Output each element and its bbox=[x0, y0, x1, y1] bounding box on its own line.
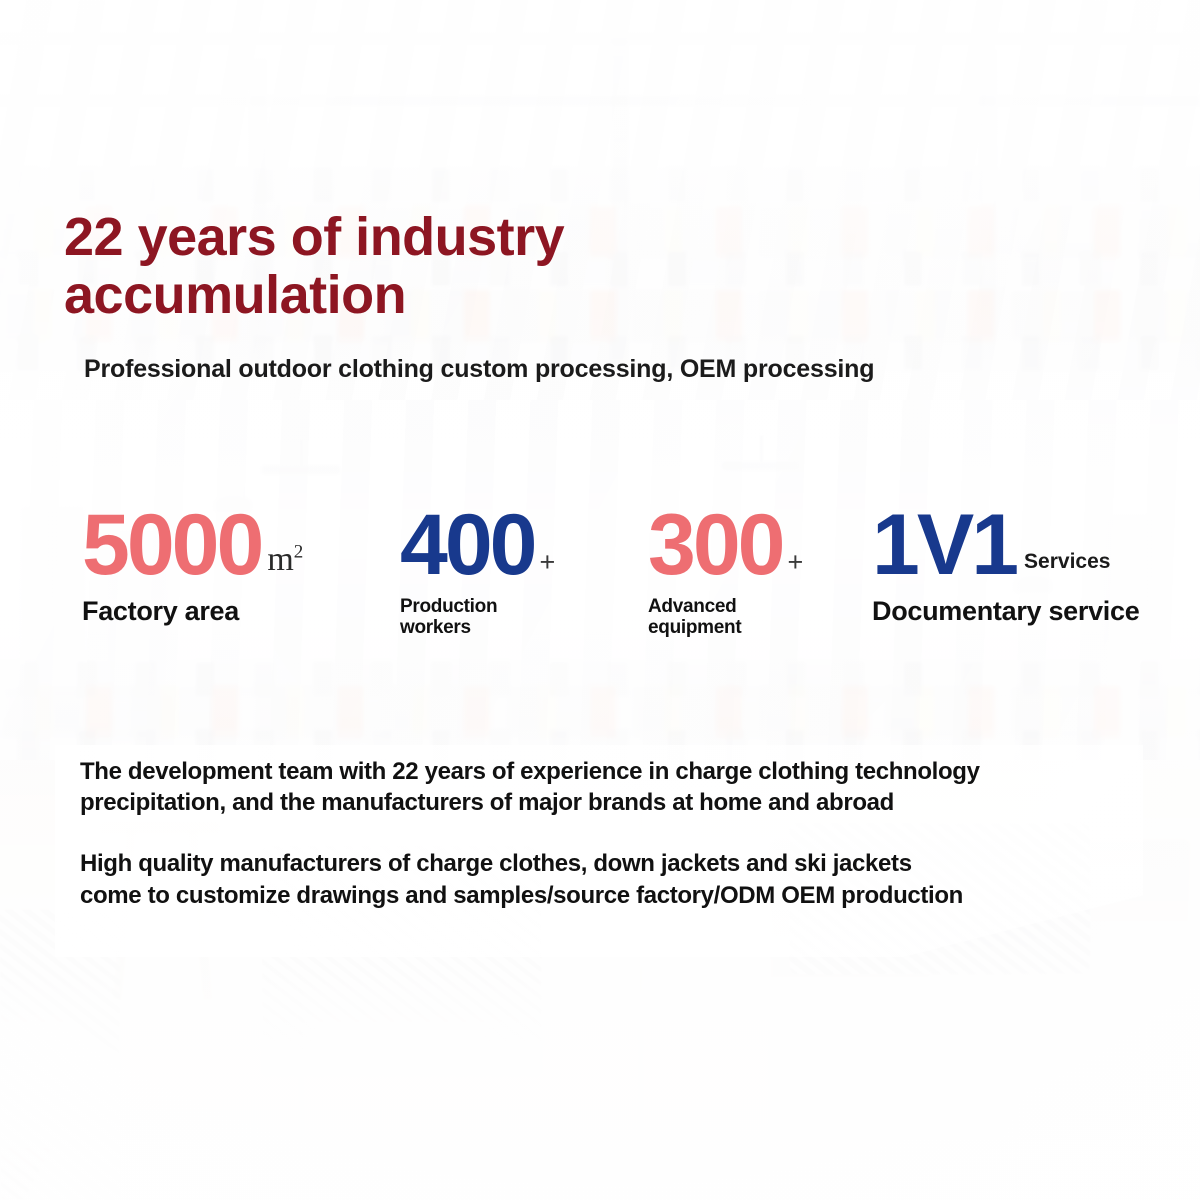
page-title: 22 years of industry accumulation bbox=[64, 208, 764, 325]
stat-figure: 300 + bbox=[648, 505, 803, 591]
stat-figure: 1V1 Services bbox=[872, 505, 1139, 591]
stat-unit: m2 bbox=[267, 541, 303, 579]
statistics-row: 5000 m2 Factory area 400 + Production wo… bbox=[60, 505, 1150, 640]
stat-label: Documentary service bbox=[872, 596, 1139, 626]
stat-plus-sign: + bbox=[788, 547, 804, 578]
stat-suffix-label: Services bbox=[1024, 550, 1110, 574]
banner-content: 22 years of industry accumulation Profes… bbox=[0, 0, 1200, 1200]
promotional-banner: 22 years of industry accumulation Profes… bbox=[0, 0, 1200, 1200]
stat-label: Production workers bbox=[400, 596, 555, 639]
stat-unit-base: m bbox=[267, 541, 293, 578]
stat-advanced-equipment: 300 + Advanced equipment bbox=[648, 505, 803, 639]
stat-value: 400 bbox=[400, 505, 535, 587]
stat-value: 1V1 bbox=[872, 505, 1016, 587]
description-paragraph-2: High quality manufacturers of charge clo… bbox=[80, 848, 1100, 910]
stat-label: Factory area bbox=[82, 596, 303, 626]
stat-value: 5000 bbox=[82, 505, 261, 587]
stat-plus-sign: + bbox=[540, 547, 556, 578]
stat-factory-area: 5000 m2 Factory area bbox=[82, 505, 303, 626]
stat-label: Advanced equipment bbox=[648, 596, 803, 639]
stat-unit-exponent: 2 bbox=[294, 542, 304, 563]
stat-documentary-service: 1V1 Services Documentary service bbox=[872, 505, 1139, 626]
description-paragraph-1: The development team with 22 years of ex… bbox=[80, 756, 1100, 818]
stat-production-workers: 400 + Production workers bbox=[400, 505, 555, 639]
stat-value: 300 bbox=[648, 505, 783, 587]
page-subtitle: Professional outdoor clothing custom pro… bbox=[84, 355, 874, 384]
description-panel-text: The development team with 22 years of ex… bbox=[80, 756, 1100, 911]
stat-figure: 400 + bbox=[400, 505, 555, 591]
stat-figure: 5000 m2 bbox=[82, 505, 303, 591]
